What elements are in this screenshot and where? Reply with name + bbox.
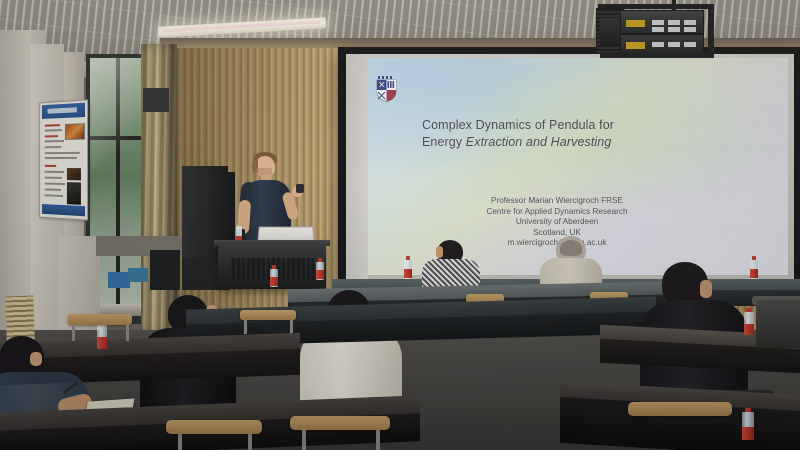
projector-lens-housing	[600, 18, 620, 46]
chair-leg	[72, 325, 75, 341]
slide-affiliation-1: Centre for Applied Dynamics Research	[392, 207, 722, 218]
water-bottle	[750, 256, 758, 282]
presenter-held-device	[296, 184, 304, 193]
water-bottle	[744, 308, 754, 340]
projector-mount-bar-bottom	[600, 52, 712, 58]
window-glare	[90, 58, 144, 178]
poster-footer-band	[42, 204, 85, 216]
poster-photo-tertiary	[67, 182, 81, 205]
wall-speaker	[143, 88, 169, 112]
slide-title-line-2-italic: Extraction and Harvesting	[466, 135, 612, 149]
chair-leg	[126, 325, 129, 341]
chair-back[interactable]	[240, 310, 296, 320]
slide-title-line-2: Energy Extraction and Harvesting	[422, 134, 782, 151]
blue-stool-2	[128, 268, 148, 282]
projector-label-upper	[626, 20, 645, 27]
lecture-hall-photo: Complex Dynamics of Pendula for Energy E…	[0, 0, 800, 450]
chair-back[interactable]	[68, 314, 132, 325]
wall-poster[interactable]	[39, 99, 88, 220]
slide-affiliation-3: Scotland, UK	[392, 228, 722, 239]
slide-title-line-2-plain: Energy	[422, 135, 466, 149]
chair-back[interactable]	[290, 416, 390, 430]
chair-leg	[302, 430, 306, 450]
chair-back[interactable]	[166, 420, 262, 434]
slide-author-name: Professor Marian Wiercigroch FRSE	[392, 196, 722, 207]
poster-photo	[65, 123, 85, 140]
water-bottle	[316, 258, 324, 283]
back-equipment-1	[150, 250, 180, 290]
chair-back[interactable]	[628, 402, 732, 416]
screen-unlit-margin	[346, 54, 368, 282]
slide-title: Complex Dynamics of Pendula for Energy E…	[392, 117, 782, 151]
projector-cable	[708, 6, 711, 58]
water-bottle	[270, 265, 278, 290]
projector-label-lower	[626, 42, 645, 49]
water-bottle	[742, 408, 754, 446]
chair-leg	[244, 320, 247, 334]
water-bottle	[404, 256, 412, 282]
water-bottle	[97, 320, 107, 354]
waste-bin	[756, 300, 800, 348]
university-crest-icon	[376, 76, 397, 102]
poster-photo-secondary	[67, 168, 81, 180]
chair-leg	[376, 430, 380, 450]
slide-author-block: Professor Marian Wiercigroch FRSE Centre…	[392, 196, 722, 249]
chair-leg	[290, 320, 293, 334]
chair-leg	[248, 434, 252, 450]
slide-affiliation-2: University of Aberdeen	[392, 217, 722, 228]
chair-leg	[178, 434, 182, 450]
stacked-books	[5, 296, 35, 341]
blue-stool-1	[108, 272, 130, 288]
slide-title-line-1: Complex Dynamics of Pendula for	[422, 117, 782, 134]
